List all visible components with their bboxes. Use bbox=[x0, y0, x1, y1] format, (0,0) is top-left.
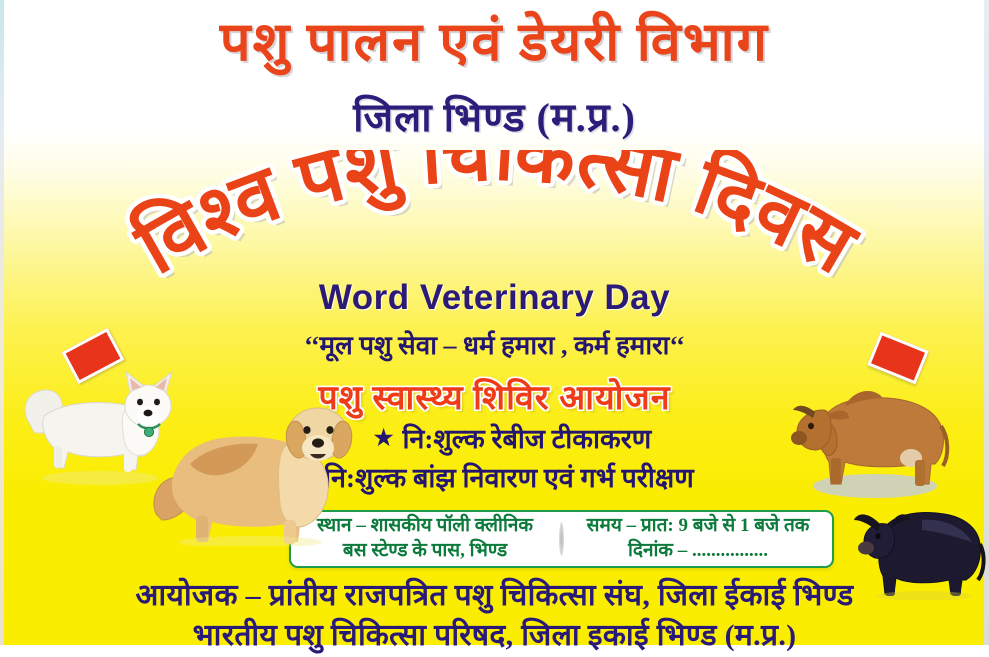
organizer-line-1: आयोजक – प्रांतीय राजपत्रित पशु चिकित्सा … bbox=[0, 576, 989, 616]
veterinary-day-poster: पशु पालन एवं डेयरी विभाग जिला भिण्ड (म.प… bbox=[0, 0, 989, 657]
black-buffalo-photo bbox=[852, 490, 987, 600]
star-icon: ★ bbox=[374, 425, 394, 450]
time-info-column: समय – प्रात: 9 बजे से 1 बजे तक दिनांक – … bbox=[564, 514, 832, 563]
english-title: Word Veterinary Day bbox=[0, 278, 989, 318]
brown-cow-photo bbox=[783, 370, 963, 500]
venue-time-info-box: स्थान – शासकीय पॉली क्लीनिक बस स्टेण्ड क… bbox=[289, 510, 834, 568]
organizer-footer: आयोजक – प्रांतीय राजपत्रित पशु चिकित्सा … bbox=[0, 576, 989, 656]
date-line-2: दिनांक – ................ bbox=[564, 539, 832, 564]
organizer-line-2: भारतीय पशु चिकित्सा परिषद, जिला इकाई भिण… bbox=[0, 616, 989, 656]
department-title: पशु पालन एवं डेयरी विभाग bbox=[0, 14, 989, 71]
district-subtitle: जिला भिण्ड (म.प्र.) bbox=[0, 88, 989, 143]
list-item-label: नि:शुल्क बांझ निवारण एवं गर्भ परीक्षण bbox=[324, 463, 694, 493]
time-line-1: समय – प्रात: 9 बजे से 1 बजे तक bbox=[587, 515, 810, 536]
list-item-label: नि:शुल्क रेबीज टीकाकरण bbox=[402, 424, 651, 454]
tan-labrador-photo bbox=[150, 386, 360, 546]
slogan-text: ‘‘मूल पशु सेवा – धर्म हमारा , कर्म हमारा… bbox=[0, 326, 989, 362]
